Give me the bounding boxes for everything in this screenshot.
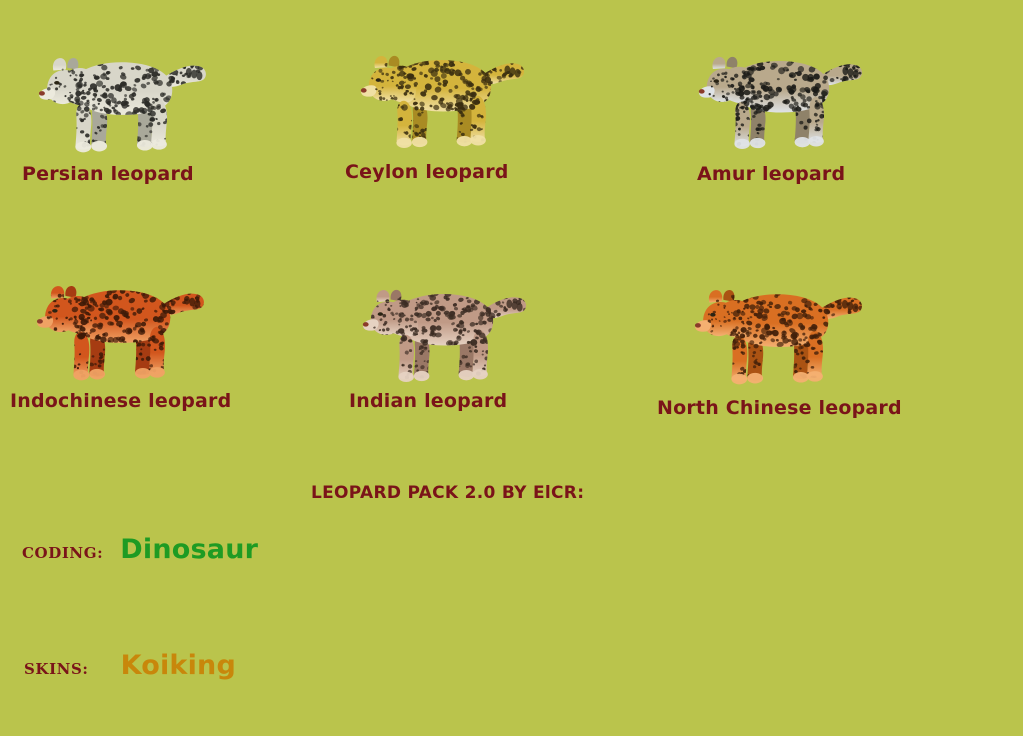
leopard-nose [361,88,367,92]
leopard-nose [39,91,45,96]
leopard-eye [378,312,383,316]
leopard-render [356,28,528,158]
leopard-render [32,30,212,162]
leopard-nose [37,319,43,324]
leopard-render [30,258,210,390]
leopard-label: Ceylon leopard [345,163,509,182]
credits-title: LEOPARD PACK 2.0 BY ElCR: [311,485,584,502]
credit-label-coding: CODING: [22,544,103,562]
credit-value-skins: Koiking [121,652,236,679]
credit-value-coding: Dinosaur [120,536,258,563]
leopard-nose [363,322,369,326]
leopard-render [688,262,868,394]
leopard-nose [695,323,701,328]
leopard-label: Amur leopard [697,165,845,184]
leopard-label: Indochinese leopard [10,392,231,411]
showcase-page: Persian leopardCeylon leopardAmur leopar… [0,0,1023,736]
leopard-eye [54,81,59,85]
leopard-eye [714,79,719,83]
leopard-render [694,28,866,160]
leopard-eye [376,78,381,82]
leopard-render [358,262,530,392]
leopard-label: Indian leopard [349,392,507,411]
credit-row-skins: SKINS: Koiking [24,652,236,679]
leopard-label: Persian leopard [22,165,194,184]
leopard-eye [52,309,57,313]
credit-row-coding: CODING: Dinosaur [22,536,258,563]
leopard-label: North Chinese leopard [657,399,902,418]
leopard-eye [710,313,715,317]
leopard-nose [699,89,705,93]
credit-label-skins: SKINS: [24,660,89,678]
